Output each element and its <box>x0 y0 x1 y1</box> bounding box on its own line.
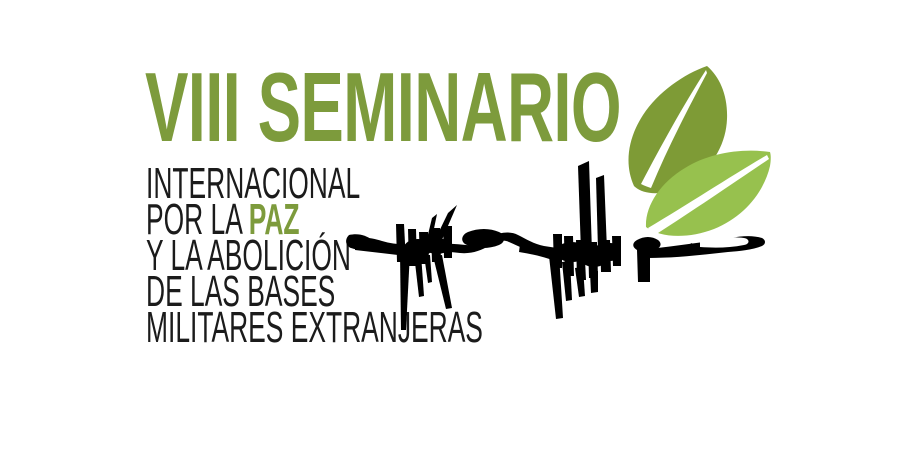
leaf-lower-light-icon <box>646 151 771 236</box>
subtitle-block: INTERNACIONAL POR LA PAZ Y LA ABOLICIÓN … <box>146 166 606 346</box>
page-title: VIII SEMINARIO <box>145 61 478 153</box>
leaf-upper-dark-icon <box>628 66 727 193</box>
logo-canvas: VIII SEMINARIO INTERNACIONAL POR LA PAZ … <box>0 0 900 450</box>
subtitle-line-militares: MILITARES EXTRANJERAS <box>146 310 422 346</box>
